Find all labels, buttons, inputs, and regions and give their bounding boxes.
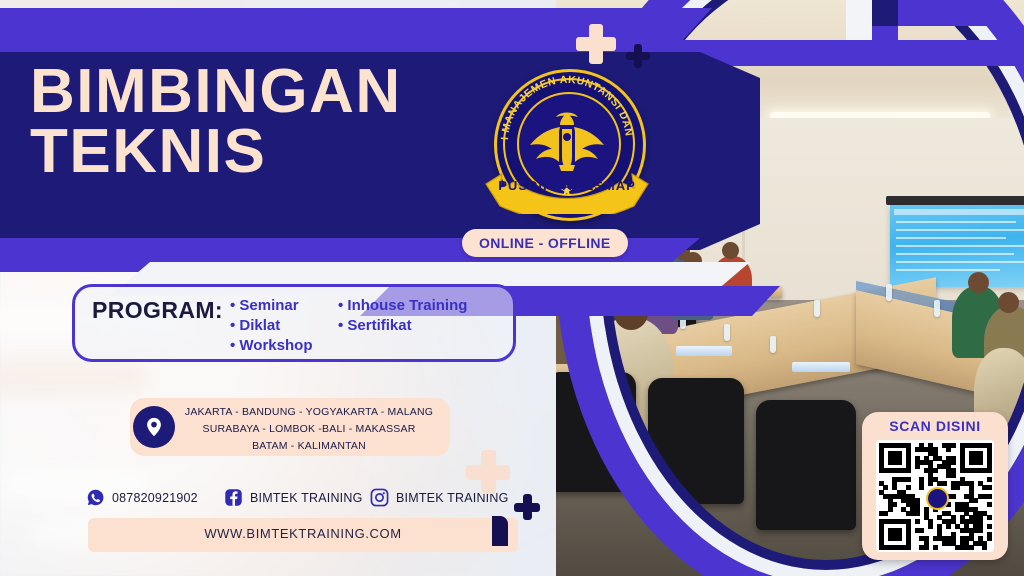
lsmap-seal-icon: [926, 487, 949, 510]
website-url[interactable]: WWW.BIMTEKTRAINING.COM: [88, 526, 518, 541]
checker-tile: [924, 0, 950, 26]
program-item: Sertifikat: [338, 316, 467, 336]
lsmap-seal-logo: LEMBAGA STUDI MANAJEMEN AKUNTANSI DAN PE…: [484, 69, 650, 227]
program-item: Seminar: [230, 296, 312, 316]
status-badge-online-offline: ONLINE - OFFLINE: [462, 229, 628, 257]
corner-accent-navy: [492, 516, 508, 546]
instagram-icon: [370, 488, 389, 507]
plus-shape-peach: [576, 24, 616, 64]
qr-code[interactable]: [876, 440, 994, 552]
locations-line-2: SURABAYA - LOMBOK -BALI - MAKASSAR: [180, 421, 438, 438]
program-label: PROGRAM:: [92, 297, 223, 324]
locations-line-3: BATAM - KALIMANTAN: [180, 438, 438, 455]
contact-facebook[interactable]: BIMTEK TRAINING: [224, 488, 363, 507]
locations-line-1: JAKARTA - BANDUNG - YOGYAKARTA - MALANG: [180, 404, 438, 421]
checker-tile: [976, 0, 1002, 26]
checker-tile: [898, 0, 924, 26]
checker-tile: [950, 0, 976, 26]
whatsapp-icon: [86, 488, 105, 507]
contact-whatsapp-label: 087820921902: [112, 491, 198, 505]
background-streak: [0, 360, 150, 394]
seal-ribbon-label: PUSDIKLAT LSMAP: [484, 178, 650, 193]
program-item: Inhouse Training: [338, 296, 467, 316]
program-list-column-one: Seminar Diklat Workshop: [230, 296, 312, 356]
facebook-icon: [224, 488, 243, 507]
contact-facebook-label: BIMTEK TRAINING: [250, 491, 363, 505]
program-item: Workshop: [230, 336, 312, 356]
plus-shape-navy: [514, 494, 540, 520]
location-pin-icon: [133, 406, 175, 448]
program-item: Diklat: [230, 316, 312, 336]
checker-tile: [846, 0, 872, 26]
qr-title: SCAN DISINI: [862, 418, 1008, 434]
program-list-column-two: Inhouse Training Sertifikat: [338, 296, 467, 336]
checker-tile: [872, 0, 898, 26]
contact-whatsapp[interactable]: 087820921902: [86, 488, 198, 507]
locations-text: JAKARTA - BANDUNG - YOGYAKARTA - MALANG …: [180, 404, 438, 455]
promo-banner: BIMBINGAN TEKNIS LEMBAGA STUDI MANAJEMEN…: [0, 0, 1024, 576]
plus-shape-navy: [626, 44, 650, 68]
plus-shape-peach: [466, 450, 510, 494]
